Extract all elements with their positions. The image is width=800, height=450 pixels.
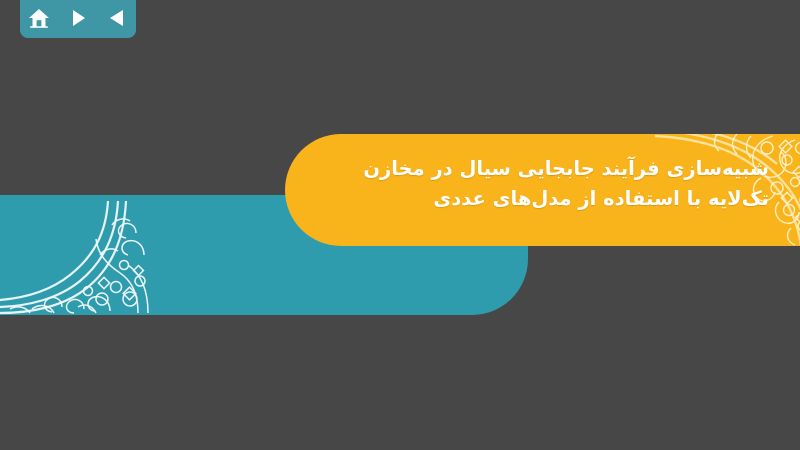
home-icon bbox=[28, 8, 50, 29]
slide-navigation-bar bbox=[20, 0, 136, 38]
slide-title-line-1: شبیه‌سازی فرآیند جابجایی سیال در مخازن bbox=[339, 154, 769, 184]
triangle-right-icon bbox=[69, 8, 87, 28]
slide-title-line-2: تک‌لایه با استفاده از مدل‌های عددی bbox=[339, 184, 769, 214]
previous-slide-button[interactable] bbox=[103, 5, 131, 31]
title-banner: شبیه‌سازی فرآیند جابجایی سیال در مخازن ت… bbox=[285, 134, 800, 246]
arabesque-corner-ornament-mirrored bbox=[0, 195, 150, 315]
next-slide-button[interactable] bbox=[64, 5, 92, 31]
home-slide-button[interactable] bbox=[25, 5, 53, 31]
triangle-left-icon bbox=[108, 8, 126, 28]
presentation-slide: شبیه‌سازی فرآیند جابجایی سیال در مخازن ت… bbox=[0, 0, 800, 450]
slide-title: شبیه‌سازی فرآیند جابجایی سیال در مخازن ت… bbox=[339, 154, 769, 214]
